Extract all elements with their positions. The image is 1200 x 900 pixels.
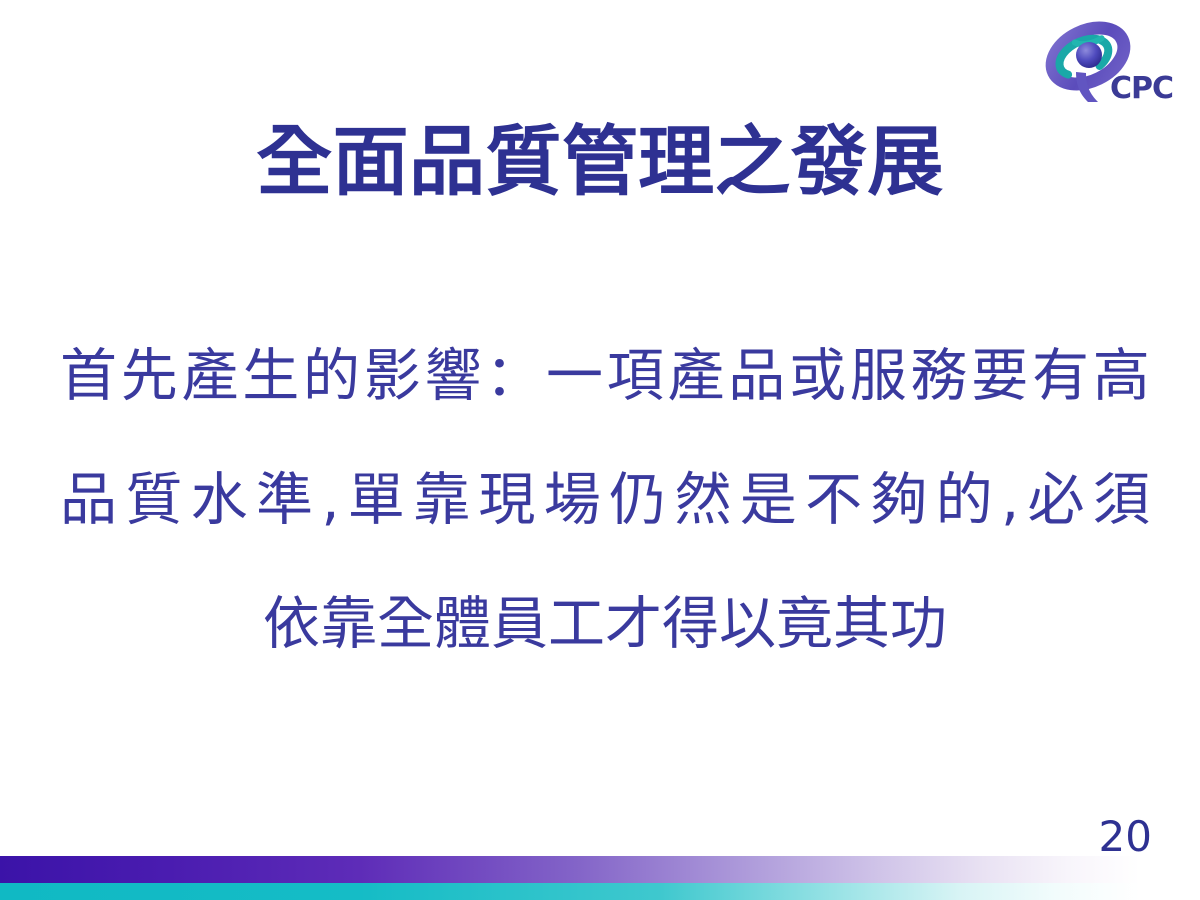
body-char: 響	[425, 348, 482, 405]
body-char: 要	[971, 348, 1028, 405]
page-number: 20	[1099, 816, 1152, 858]
body-char: 項	[607, 348, 664, 405]
body-char: 夠	[870, 472, 927, 529]
body-char: 影	[364, 348, 421, 405]
logo-sphere	[1076, 42, 1102, 68]
body-char: ,	[321, 472, 339, 529]
body-line-3: 依靠全體員工才得以竟其功	[60, 596, 1150, 653]
body-char: 的	[303, 348, 360, 405]
body-char: 不	[805, 472, 862, 529]
body-char: 必	[1028, 472, 1085, 529]
body-char: ：	[485, 348, 542, 405]
body-line-2: 品 質 水 準 , 單 靠 現 場 仍 然 是 不 夠 的 , 必 須	[60, 472, 1150, 529]
body-char: 須	[1093, 472, 1150, 529]
body-char: 然	[674, 472, 731, 529]
body-char: 產	[182, 348, 239, 405]
body-char: 產	[668, 348, 725, 405]
footer-teal-strip	[0, 883, 1200, 900]
footer-gradient-bar	[0, 856, 1200, 883]
body-line-1: 首 先 產 生 的 影 響 ： 一 項 產 品 或 服 務 要 有 高	[60, 348, 1150, 405]
body-char: 的	[936, 472, 993, 529]
body-char: 單	[348, 472, 405, 529]
body-char: 或	[789, 348, 846, 405]
body-char: 首	[60, 348, 117, 405]
body-char: 一	[546, 348, 603, 405]
body-char: 品	[60, 472, 117, 529]
body-char: 準	[256, 472, 313, 529]
body-char: 生	[242, 348, 299, 405]
body-char: 高	[1093, 348, 1150, 405]
body-char: ,	[1001, 472, 1019, 529]
body-char: 務	[911, 348, 968, 405]
body-char: 服	[850, 348, 907, 405]
logo-wordmark: CPC	[1110, 71, 1173, 106]
body-char: 仍	[609, 472, 666, 529]
page-title: 全面品質管理之發展	[0, 124, 1200, 200]
body-char: 先	[121, 348, 178, 405]
body-char: 有	[1032, 348, 1089, 405]
body-char: 品	[728, 348, 785, 405]
body-char: 是	[740, 472, 797, 529]
body-char: 水	[191, 472, 248, 529]
slide: CPC 全面品質管理之發展 首 先 產 生 的 影 響 ： 一 項 產 品 或 …	[0, 0, 1200, 900]
body-text: 首 先 產 生 的 影 響 ： 一 項 產 品 或 服 務 要 有 高 品 質 …	[60, 348, 1150, 653]
body-char: 靠	[413, 472, 470, 529]
body-char: 現	[478, 472, 535, 529]
cpc-logo: CPC	[1032, 16, 1182, 108]
body-char: 場	[544, 472, 601, 529]
body-char: 質	[125, 472, 182, 529]
